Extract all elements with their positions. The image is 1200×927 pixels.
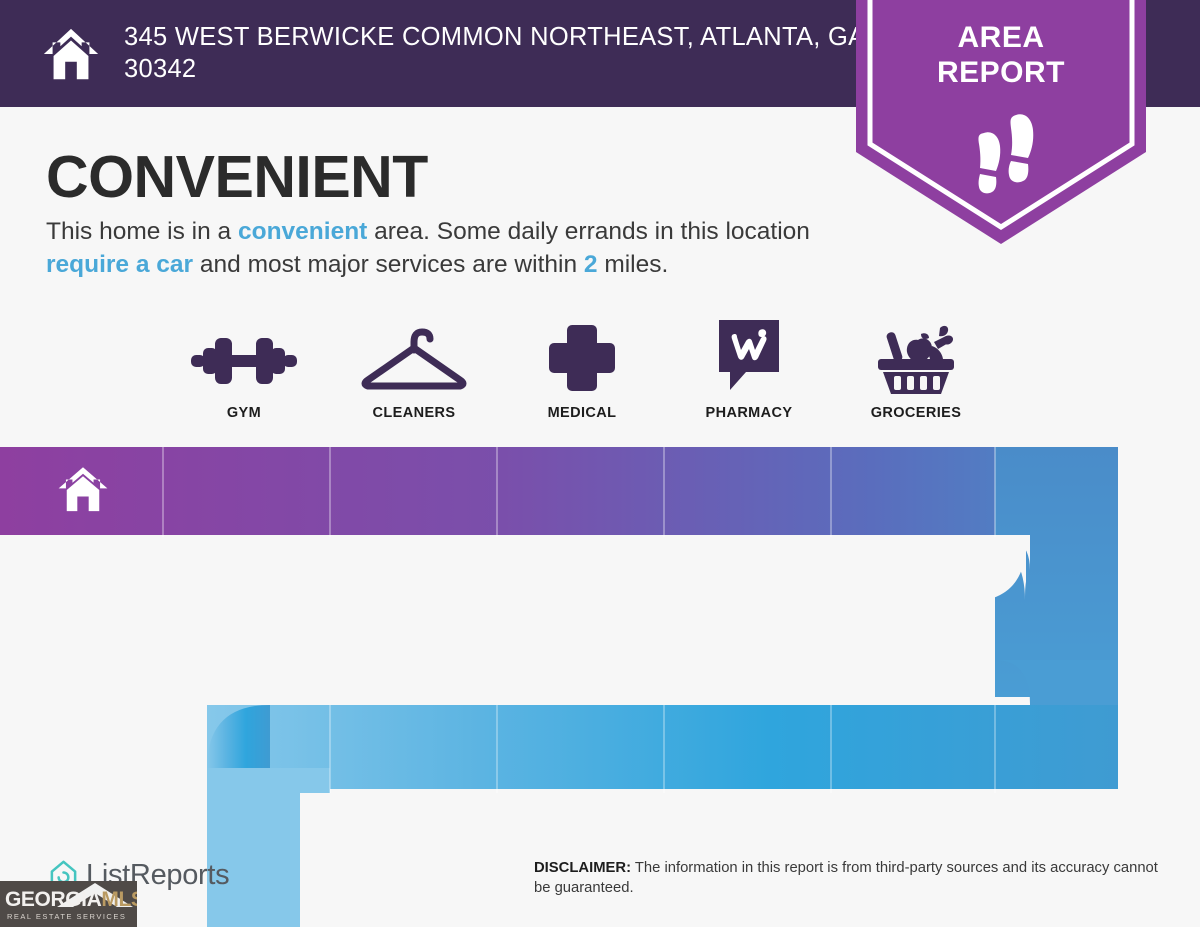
mls-georgia: GEORGIA: [5, 888, 101, 911]
amenity-label: PHARMACY: [666, 405, 832, 421]
summary-part-1: This home is in a: [46, 218, 238, 245]
mls-tagline: REAL ESTATE SERVICES: [7, 912, 126, 921]
amenity-groceries: GROCERIES: [833, 322, 999, 421]
amenity-cleaners: CLEANERS: [331, 322, 497, 421]
georgia-mls-watermark: GEORGIAMLS REAL ESTATE SERVICES: [0, 881, 137, 927]
disclaimer-label: DISCLAIMER:: [534, 860, 631, 876]
mls-wordmark: GEORGIAMLS: [5, 888, 137, 912]
summary-part-4: miles.: [598, 251, 669, 278]
distance-ribbon: [0, 430, 1200, 927]
disclaimer: DISCLAIMER: The information in this repo…: [534, 858, 1159, 899]
summary-text: This home is in a convenient area. Some …: [46, 216, 866, 281]
amenity-label: GYM: [161, 405, 327, 421]
summary-part-3: and most major services are within: [193, 251, 584, 278]
medical-cross-icon: [499, 322, 665, 394]
amenity-gym: GYM: [161, 322, 327, 421]
amenity-label: MEDICAL: [499, 405, 665, 421]
mls-mls: MLS: [101, 888, 137, 911]
amenity-label: CLEANERS: [331, 405, 497, 421]
summary-highlight-require-a-car: require a car: [46, 251, 193, 278]
walgreens-w-icon: [666, 322, 832, 394]
dumbbell-icon: [161, 322, 327, 394]
subject-home-icon: [57, 465, 109, 520]
page-title: CONVENIENT: [46, 143, 428, 211]
amenity-pharmacy: PHARMACY: [666, 322, 832, 421]
amenity-label: GROCERIES: [833, 405, 999, 421]
summary-highlight-miles: 2: [584, 251, 598, 278]
home-icon: [40, 23, 102, 85]
property-address: 345 WEST BERWICKE COMMON NORTHEAST, ATLA…: [124, 22, 884, 84]
amenity-medical: MEDICAL: [499, 322, 665, 421]
grocery-basket-icon: [833, 322, 999, 394]
summary-part-2: area. Some daily errands in this locatio…: [367, 218, 810, 245]
hanger-icon: [331, 322, 497, 394]
summary-highlight-convenient: convenient: [238, 218, 367, 245]
area-report-badge: AREA REPORT: [856, 0, 1146, 244]
area-report-page: 345 WEST BERWICKE COMMON NORTHEAST, ATLA…: [0, 0, 1200, 927]
